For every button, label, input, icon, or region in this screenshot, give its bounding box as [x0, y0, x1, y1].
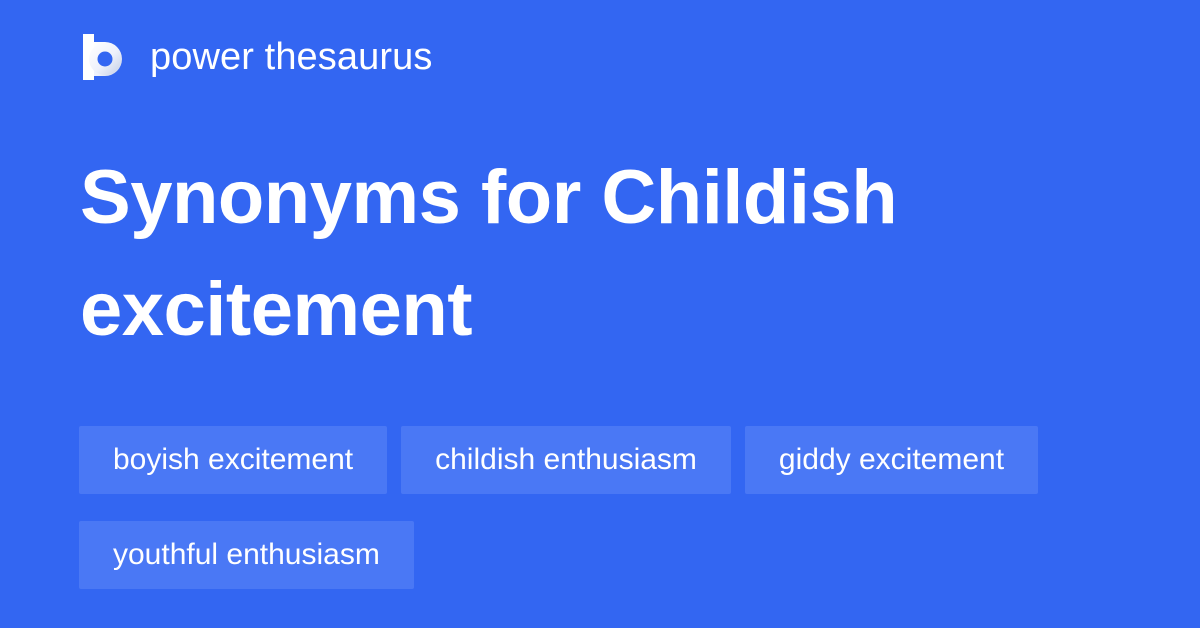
- synonym-chip[interactable]: giddy excitement: [745, 426, 1038, 494]
- synonym-chip[interactable]: youthful enthusiasm: [79, 521, 414, 589]
- brand-header[interactable]: power thesaurus: [80, 31, 432, 83]
- brand-name: power thesaurus: [150, 38, 432, 76]
- synonym-chip-list: boyish excitement childish enthusiasm gi…: [79, 426, 1119, 589]
- og-card: power thesaurus Synonyms for Childish ex…: [0, 0, 1200, 628]
- page-title: Synonyms for Childish excitement: [80, 142, 1040, 366]
- synonym-chip[interactable]: childish enthusiasm: [401, 426, 731, 494]
- power-thesaurus-logo-icon: [80, 32, 130, 82]
- synonym-chip[interactable]: boyish excitement: [79, 426, 387, 494]
